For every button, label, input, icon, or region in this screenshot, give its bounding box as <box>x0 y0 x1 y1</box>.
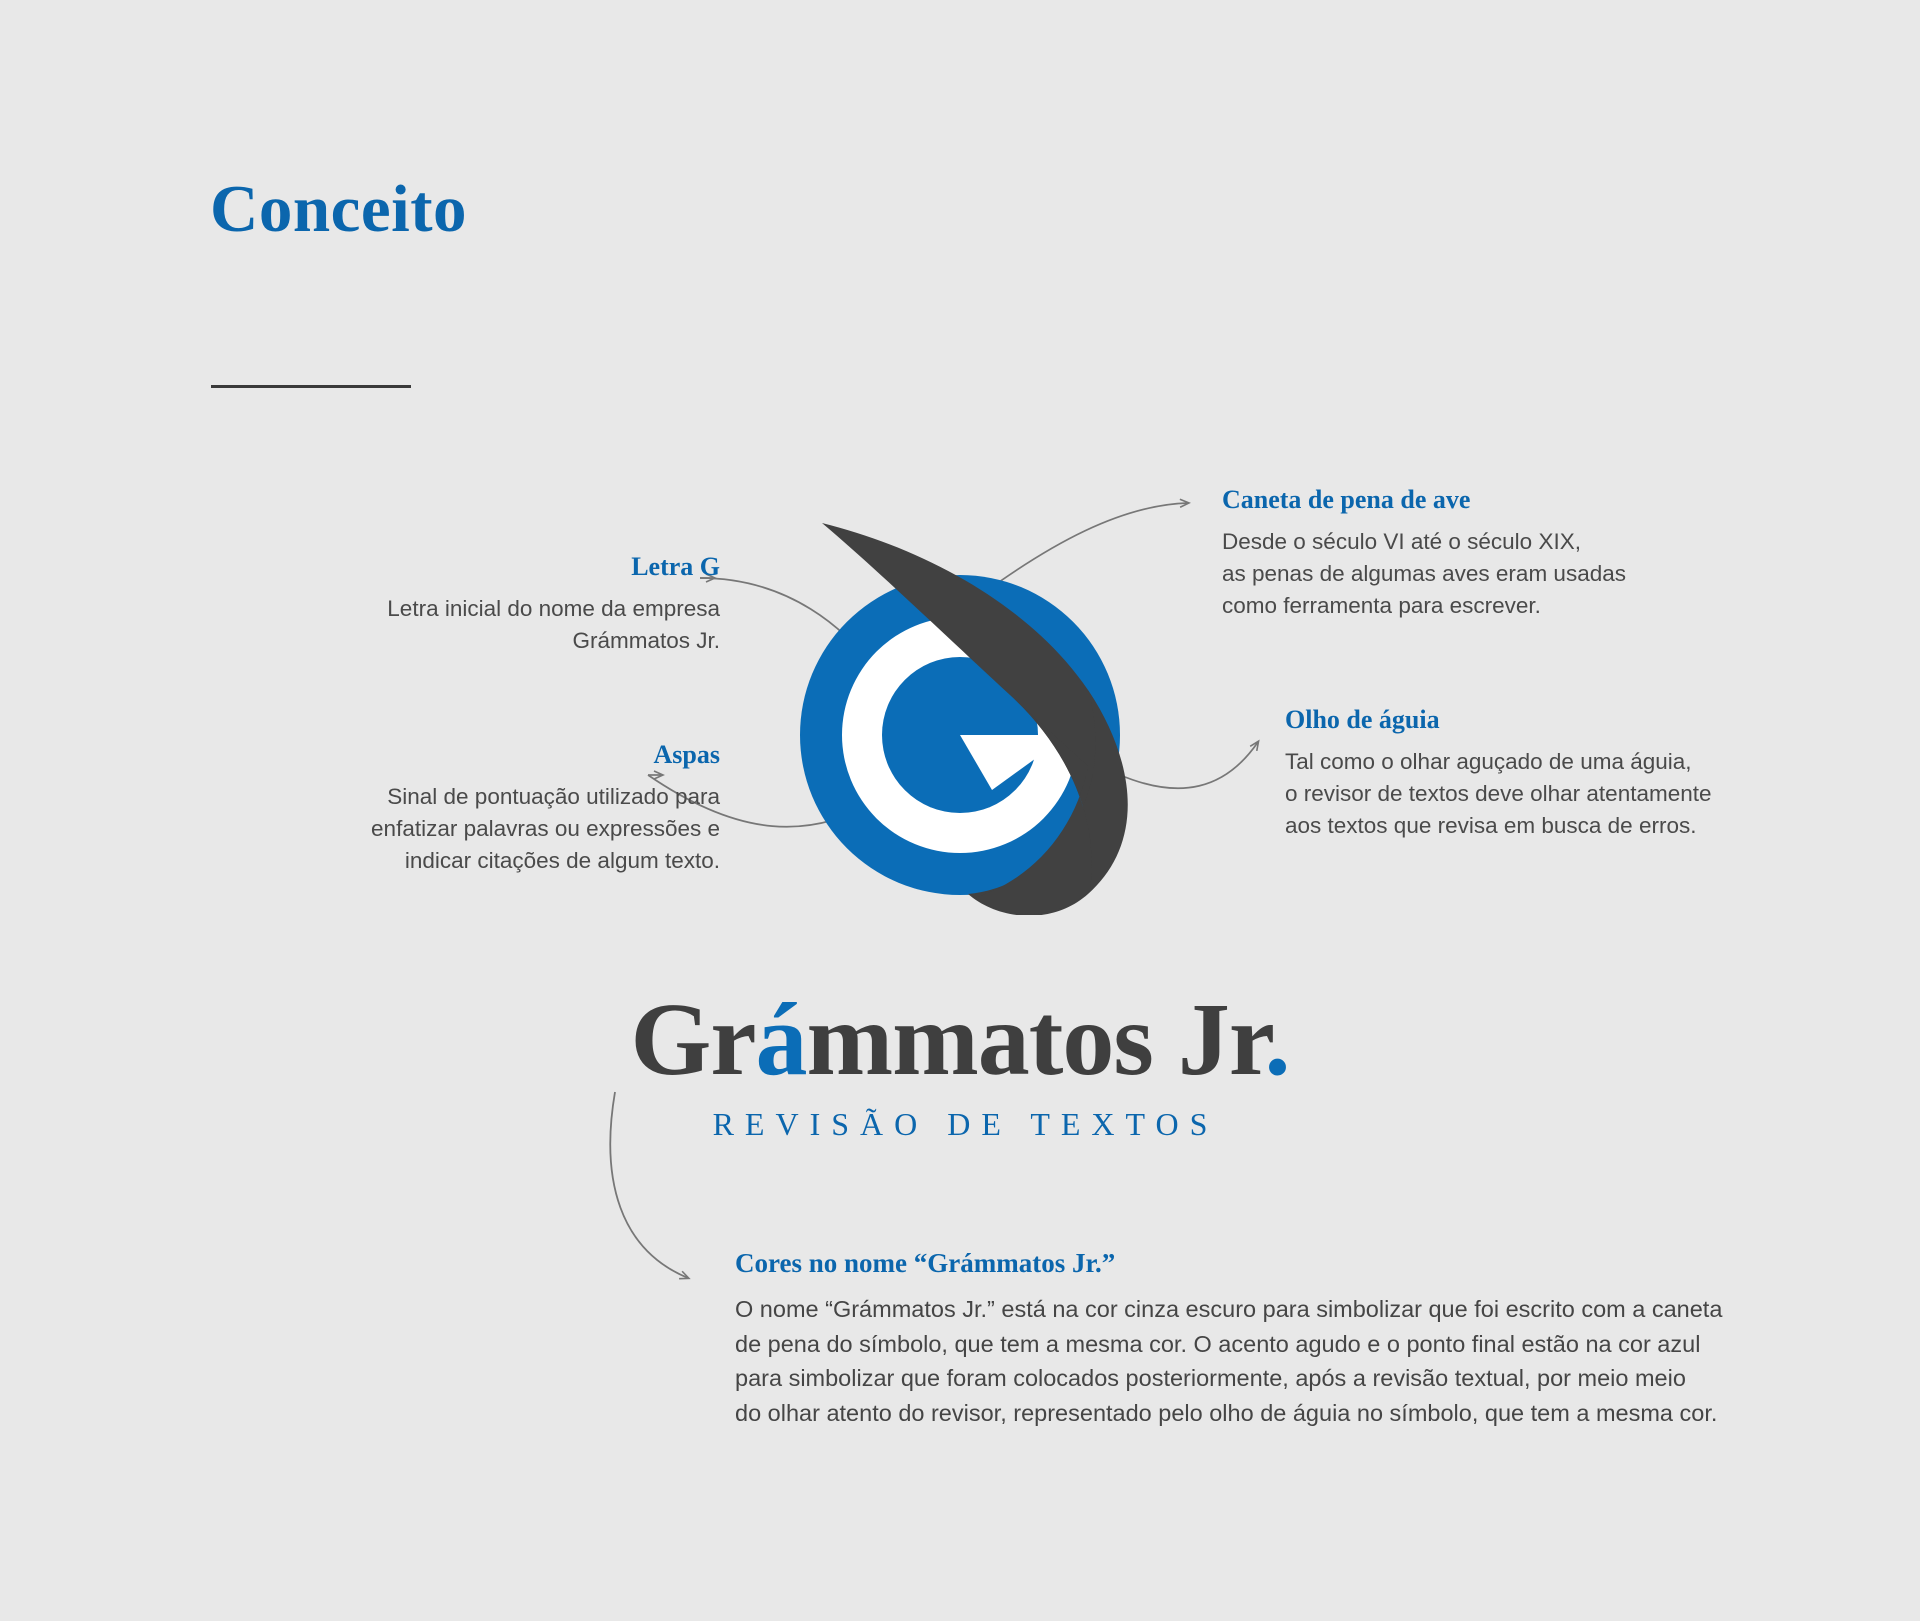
callout-aspas-body: Sinal de pontuação utilizado para enfati… <box>210 781 720 877</box>
callout-aspas-title: Aspas <box>210 740 720 770</box>
callout-olho-de-aguia: Olho de águia Tal como o olhar aguçado d… <box>1285 705 1805 842</box>
callout-cores-body: O nome “Grámmatos Jr.” está na cor cinza… <box>735 1292 1805 1430</box>
arrow-cores <box>610 1092 688 1278</box>
wordmark-middle: mmatos Jr <box>807 982 1265 1097</box>
concept-board: Conceito <box>0 0 1920 1621</box>
wordmark-final-dot: . <box>1265 982 1290 1097</box>
wordmark-tagline: REVISÃO DE TEXTOS <box>0 1106 1920 1143</box>
callout-letra-g: Letra G Letra inicial do nome da empresa… <box>250 552 720 657</box>
wordmark-accent-character: á <box>756 982 807 1097</box>
title-divider <box>211 385 411 388</box>
wordmark-prefix: Gr <box>630 982 755 1097</box>
callout-letra-g-body: Letra inicial do nome da empresa Grámmat… <box>250 593 720 657</box>
callout-olho-title: Olho de águia <box>1285 705 1805 735</box>
callout-cores-title: Cores no nome “Grámmatos Jr.” <box>735 1248 1805 1279</box>
logo-symbol <box>800 490 1160 915</box>
callout-olho-body: Tal como o olhar aguçado de uma águia, o… <box>1285 746 1805 842</box>
callout-cores-no-nome: Cores no nome “Grámmatos Jr.” O nome “Gr… <box>735 1248 1805 1430</box>
callout-letra-g-title: Letra G <box>250 552 720 582</box>
callout-caneta-de-pena: Caneta de pena de ave Desde o século VI … <box>1222 485 1682 622</box>
wordmark-text: Grámmatos Jr. <box>630 985 1289 1094</box>
callout-caneta-body: Desde o século VI até o século XIX, as p… <box>1222 526 1682 622</box>
page-title: Conceito <box>210 176 467 243</box>
callout-aspas: Aspas Sinal de pontuação utilizado para … <box>210 740 720 877</box>
logo-wordmark: Grámmatos Jr. REVISÃO DE TEXTOS <box>0 985 1920 1143</box>
callout-caneta-title: Caneta de pena de ave <box>1222 485 1682 515</box>
